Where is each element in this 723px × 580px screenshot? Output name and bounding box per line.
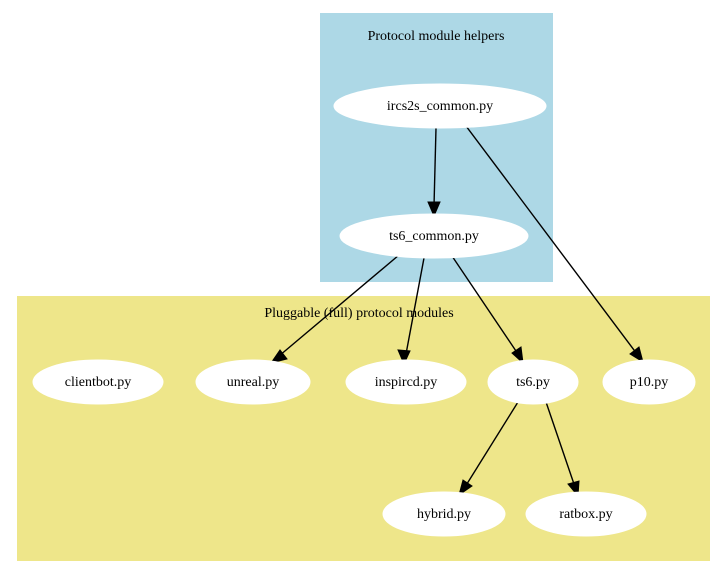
node-label: hybrid.py	[417, 507, 471, 522]
node-ts6_common[interactable]: ts6_common.py	[340, 214, 528, 258]
node-label: unreal.py	[227, 375, 279, 390]
node-ratbox[interactable]: ratbox.py	[526, 492, 646, 536]
node-label: inspircd.py	[375, 375, 438, 390]
node-ircs2s_common[interactable]: ircs2s_common.py	[334, 84, 546, 128]
node-label: ts6.py	[516, 375, 550, 390]
node-p10[interactable]: p10.py	[603, 360, 695, 404]
node-hybrid[interactable]: hybrid.py	[383, 492, 505, 536]
node-ts6[interactable]: ts6.py	[488, 360, 578, 404]
node-clientbot[interactable]: clientbot.py	[33, 360, 163, 404]
node-label: clientbot.py	[65, 375, 132, 390]
node-unreal[interactable]: unreal.py	[196, 360, 310, 404]
node-label: p10.py	[630, 375, 669, 390]
node-inspircd[interactable]: inspircd.py	[346, 360, 466, 404]
cluster-pluggable-label: Pluggable (full) protocol modules	[264, 306, 453, 321]
node-label: ratbox.py	[559, 507, 612, 522]
diagram-canvas: Protocol module helpers Pluggable (full)…	[0, 0, 723, 580]
cluster-helpers-label: Protocol module helpers	[368, 29, 505, 44]
node-label: ts6_common.py	[389, 229, 479, 244]
graph-svg: Protocol module helpers Pluggable (full)…	[0, 0, 723, 580]
node-label: ircs2s_common.py	[387, 99, 493, 114]
